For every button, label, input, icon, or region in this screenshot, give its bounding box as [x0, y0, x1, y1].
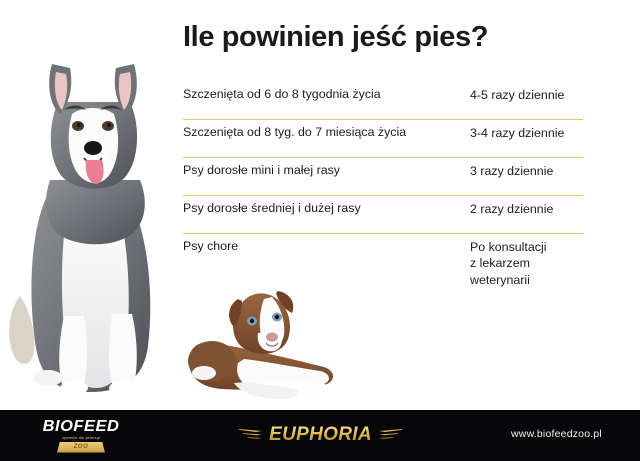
table-row: Psy dorosłe średniej i dużej rasy 2 razy…: [183, 196, 583, 233]
row-value: Po konsultacji z lekarzem weterynarii: [470, 234, 583, 288]
euphoria-wordmark: EUPHORIA: [269, 424, 372, 446]
row-value: 3 razy dziennie: [470, 158, 583, 179]
biofeed-zoo-badge: ZOO: [57, 442, 105, 453]
row-label: Psy dorosłe mini i małej rasy: [183, 158, 470, 179]
table-row: Psy chore Po konsultacji z lekarzem wete…: [183, 234, 583, 290]
biofeed-tagline: żywienie dla zwierząt: [33, 436, 129, 440]
table-row: Psy dorosłe mini i małej rasy 3 razy dzi…: [183, 158, 583, 195]
page-title: Ile powinien jeść pies?: [183, 21, 488, 54]
biofeed-logo[interactable]: BIOFEED żywienie dla zwierząt ZOO: [33, 419, 129, 453]
euphoria-logo[interactable]: EUPHORIA: [243, 422, 398, 448]
website-url[interactable]: www.biofeedzoo.pl: [511, 428, 602, 440]
infographic-poster: Ile powinien jeść pies? Szczenięta od 6 …: [0, 0, 640, 461]
row-value: 4-5 razy dziennie: [470, 82, 583, 103]
speed-lines-right-icon: [377, 426, 403, 444]
row-label: Szczenięta od 8 tyg. do 7 miesiąca życia: [183, 120, 470, 141]
husky-dog-photo: [8, 48, 168, 398]
row-value: 2 razy dziennie: [470, 196, 583, 217]
row-label: Psy chore: [183, 234, 470, 255]
biofeed-wordmark: BIOFEED: [30, 419, 132, 435]
table-row: Szczenięta od 8 tyg. do 7 miesiąca życia…: [183, 120, 583, 157]
feeding-frequency-table: Szczenięta od 6 do 8 tygodnia życia 4-5 …: [183, 82, 583, 290]
speed-lines-left-icon: [238, 426, 264, 444]
row-value: 3-4 razy dziennie: [470, 120, 583, 141]
puppy-dog-photo: [182, 285, 357, 403]
table-row: Szczenięta od 6 do 8 tygodnia życia 4-5 …: [183, 82, 583, 119]
row-label: Psy dorosłe średniej i dużej rasy: [183, 196, 470, 217]
row-label: Szczenięta od 6 do 8 tygodnia życia: [183, 82, 470, 103]
